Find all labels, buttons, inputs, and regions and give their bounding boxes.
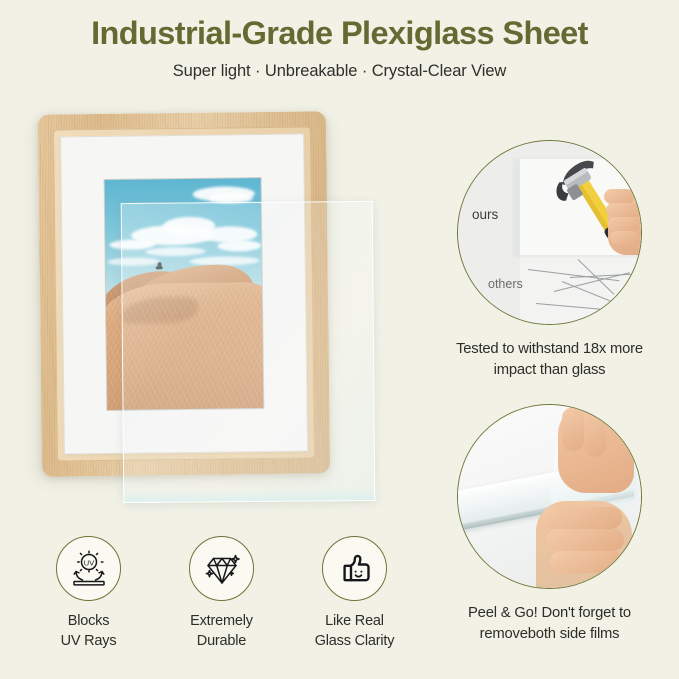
finger — [562, 407, 584, 451]
label-ours: ours — [472, 207, 498, 222]
finger — [584, 405, 606, 457]
feature-label: Like Real Glass Clarity — [288, 612, 421, 651]
finger — [610, 231, 638, 244]
label-others: others — [488, 277, 523, 291]
ours-sheet-edge — [514, 159, 520, 255]
finger — [608, 217, 640, 231]
finger — [542, 507, 622, 529]
feature-extremely-durable: Extremely Durable — [155, 536, 288, 651]
finger — [550, 551, 624, 573]
feature-like-real-glass-clarity: Like Real Glass Clarity — [288, 536, 421, 651]
impact-test-image: ours others — [457, 140, 642, 325]
product-photo — [22, 104, 422, 516]
feature-list: UV Blocks UV Rays — [22, 536, 422, 651]
thumbs-up-icon — [322, 536, 387, 601]
header: Industrial-Grade Plexiglass Sheet Super … — [0, 0, 679, 81]
page-title: Industrial-Grade Plexiglass Sheet — [0, 17, 679, 50]
feature-label: Extremely Durable — [155, 612, 288, 651]
finger — [546, 529, 624, 551]
page-subtitle: Super light · Unbreakable · Crystal-Clea… — [0, 62, 679, 81]
uv-shield-icon: UV — [56, 536, 121, 601]
finger — [606, 203, 640, 217]
infographic-root: Industrial-Grade Plexiglass Sheet Super … — [0, 0, 679, 679]
peel-film-panel: Peel & Go! Don't forget to removeboth si… — [420, 404, 679, 645]
plexiglass-overlay-sheet — [121, 201, 376, 503]
peel-film-image — [457, 404, 642, 589]
impact-test-caption: Tested to withstand 18x more impact than… — [420, 339, 679, 381]
impact-test-panel: ours others Tested to withstand 18x more… — [420, 140, 679, 381]
diamond-icon — [189, 536, 254, 601]
others-glass-sheet — [520, 247, 642, 325]
sheet-glint — [124, 488, 374, 502]
feature-label: Blocks UV Rays — [22, 612, 155, 651]
peel-film-caption: Peel & Go! Don't forget to removeboth si… — [420, 603, 679, 645]
finger — [604, 189, 634, 204]
svg-text:UV: UV — [83, 558, 93, 567]
feature-blocks-uv-rays: UV Blocks UV Rays — [22, 536, 155, 651]
